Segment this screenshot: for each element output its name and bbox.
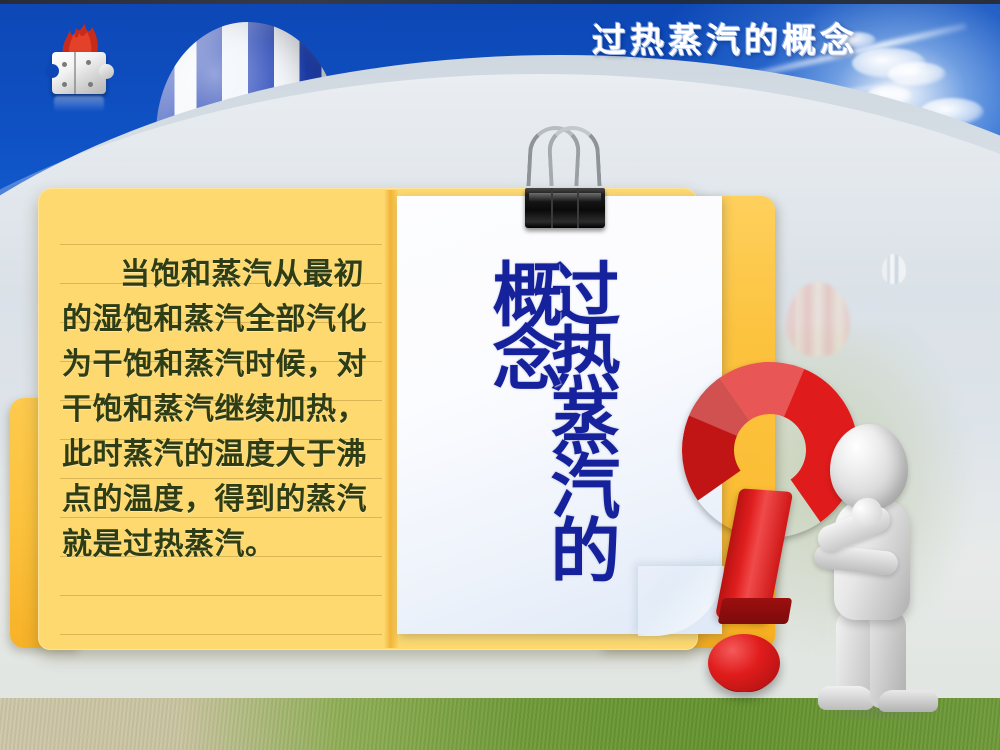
thinking-figure-icon xyxy=(812,424,950,712)
clip-wire-right xyxy=(546,126,601,186)
page-title: 过热蒸汽的概念 xyxy=(560,18,890,64)
clip-seam xyxy=(551,188,553,228)
folder-crease xyxy=(384,190,398,648)
note-body-text: 当饱和蒸汽从最初的湿饱和蒸汽全部汽化为干饱和蒸汽时候，对干饱和蒸汽继续加热，此时… xyxy=(62,252,382,567)
figure-foot-left xyxy=(818,686,874,710)
puzzle-dot xyxy=(62,82,67,87)
binder-clip-icon xyxy=(519,122,609,222)
hot-air-balloon-small-icon xyxy=(882,254,906,284)
puzzle-dot xyxy=(62,62,67,67)
slide-canvas: 过热蒸汽的概念 当饱和蒸汽从最初的湿饱和蒸汽全部汽化为干饱和蒸汽时候，对干饱和蒸… xyxy=(0,0,1000,750)
figure-foot-right xyxy=(878,690,938,712)
puzzle-piece-shape xyxy=(52,52,106,94)
puzzle-dot xyxy=(88,82,93,87)
question-mark-stem-tip xyxy=(718,598,793,624)
puzzle-dot xyxy=(86,60,91,65)
clip-seam xyxy=(577,188,579,228)
flaming-puzzle-piece-icon xyxy=(48,26,114,94)
vertical-heading: 过热蒸汽的概念 xyxy=(517,258,609,618)
question-mark-dot xyxy=(708,634,780,692)
cloud-icon xyxy=(888,62,946,86)
clip-body xyxy=(525,188,605,228)
window-top-edge xyxy=(0,0,1000,4)
logo-reflection xyxy=(54,96,104,112)
puzzle-seam xyxy=(74,52,76,94)
